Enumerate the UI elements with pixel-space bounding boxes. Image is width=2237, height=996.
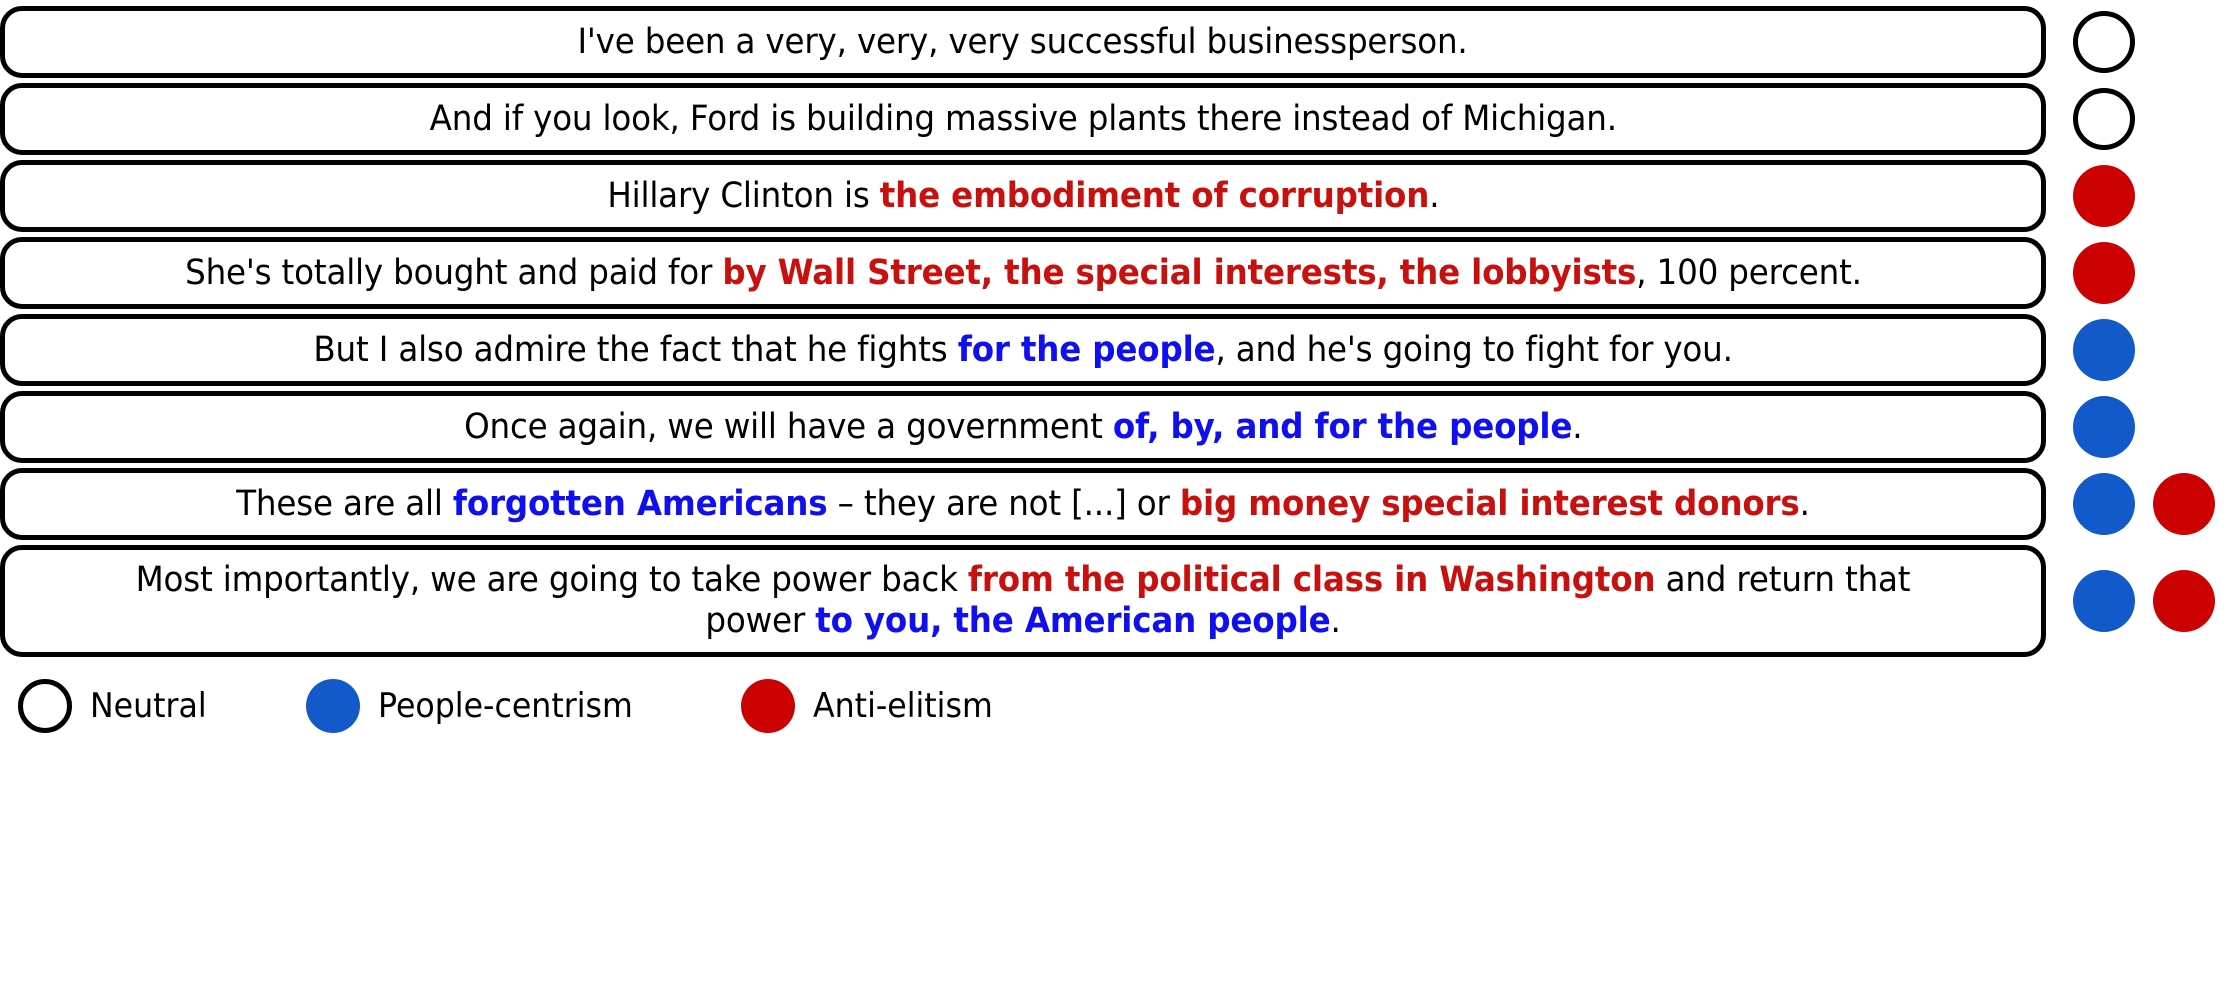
plain-text-segment: And if you look, Ford is building massiv…	[429, 99, 1616, 139]
marker-group	[2046, 83, 2237, 155]
quote-bubble[interactable]: And if you look, Ford is building massiv…	[0, 83, 2046, 155]
legend: NeutralPeople-centrismAnti-elitism	[0, 679, 2237, 733]
plain-text-segment: Most importantly, we are going to take p…	[136, 560, 968, 600]
plain-text-segment: Hillary Clinton is	[607, 176, 879, 216]
plain-text-segment: , and he's going to fight for you.	[1215, 330, 1732, 370]
plain-text-segment: .	[1330, 601, 1340, 641]
quote-row: I've been a very, very, very successful …	[0, 6, 2237, 78]
marker-group	[2046, 160, 2237, 232]
quote-text: Hillary Clinton is the embodiment of cor…	[607, 176, 1439, 217]
anti-elitism-marker-icon	[2073, 165, 2135, 227]
plain-text-segment: But I also admire the fact that he fight…	[313, 330, 957, 370]
quote-text: Most importantly, we are going to take p…	[89, 560, 1956, 642]
quote-row: Most importantly, we are going to take p…	[0, 545, 2237, 657]
neutral-marker-icon	[2073, 11, 2135, 73]
quote-row: These are all forgotten Americans – they…	[0, 468, 2237, 540]
marker-group	[2046, 468, 2237, 540]
people-centrism-marker-icon	[2073, 570, 2135, 632]
marker-group	[2046, 6, 2237, 78]
marker-group	[2046, 237, 2237, 309]
anti-elitism-highlight: the embodiment of corruption	[879, 176, 1428, 216]
marker-group	[2046, 545, 2237, 657]
plain-text-segment: These are all	[236, 484, 453, 524]
quote-bubble[interactable]: She's totally bought and paid for by Wal…	[0, 237, 2046, 309]
anti-elitism-marker-icon	[2153, 473, 2215, 535]
anti-elitism-highlight: from the political class in Washington	[968, 560, 1655, 600]
legend-item-neutral: Neutral	[18, 679, 216, 733]
quote-bubble[interactable]: Once again, we will have a government of…	[0, 391, 2046, 463]
plain-text-segment: – they are not [...] or	[827, 484, 1179, 524]
anti-elitism-legend-icon	[741, 679, 795, 733]
neutral-marker-icon	[2073, 88, 2135, 150]
quote-bubble[interactable]: These are all forgotten Americans – they…	[0, 468, 2046, 540]
marker-group	[2046, 391, 2237, 463]
quote-bubble[interactable]: Most importantly, we are going to take p…	[0, 545, 2046, 657]
people-centrism-highlight: forgotten Americans	[453, 484, 828, 524]
people-centrism-marker-icon	[2073, 396, 2135, 458]
anti-elitism-highlight: by Wall Street, the special interests, t…	[722, 253, 1636, 293]
quote-row: She's totally bought and paid for by Wal…	[0, 237, 2237, 309]
quote-bubble[interactable]: But I also admire the fact that he fight…	[0, 314, 2046, 386]
plain-text-segment: .	[1429, 176, 1439, 216]
legend-label: Neutral	[90, 686, 207, 726]
plain-text-segment: Once again, we will have a government	[464, 407, 1113, 447]
quote-row: Once again, we will have a government of…	[0, 391, 2237, 463]
people-centrism-highlight: for the people	[958, 330, 1216, 370]
figure-root: I've been a very, very, very successful …	[0, 0, 2237, 996]
quote-text: These are all forgotten Americans – they…	[236, 484, 1810, 525]
plain-text-segment: , 100 percent.	[1636, 253, 1862, 293]
anti-elitism-marker-icon	[2073, 242, 2135, 304]
quote-row-list: I've been a very, very, very successful …	[0, 6, 2237, 657]
legend-item-blue: People-centrism	[306, 679, 652, 733]
people-centrism-marker-icon	[2073, 473, 2135, 535]
marker-group	[2046, 314, 2237, 386]
quote-text: But I also admire the fact that he fight…	[313, 330, 1732, 371]
legend-item-red: Anti-elitism	[741, 679, 1006, 733]
legend-label: Anti-elitism	[813, 686, 993, 726]
people-centrism-highlight: to you, the American people	[815, 601, 1330, 641]
quote-text: I've been a very, very, very successful …	[578, 22, 1468, 63]
people-centrism-legend-icon	[306, 679, 360, 733]
plain-text-segment: .	[1800, 484, 1810, 524]
people-centrism-marker-icon	[2073, 319, 2135, 381]
quote-row: Hillary Clinton is the embodiment of cor…	[0, 160, 2237, 232]
people-centrism-highlight: of, by, and for the people	[1113, 407, 1572, 447]
legend-label: People-centrism	[378, 686, 633, 726]
plain-text-segment: She's totally bought and paid for	[185, 253, 722, 293]
plain-text-segment: .	[1572, 407, 1582, 447]
anti-elitism-marker-icon	[2153, 570, 2215, 632]
plain-text-segment: I've been a very, very, very successful …	[578, 22, 1468, 62]
quote-bubble[interactable]: I've been a very, very, very successful …	[0, 6, 2046, 78]
quote-row: But I also admire the fact that he fight…	[0, 314, 2237, 386]
quote-bubble[interactable]: Hillary Clinton is the embodiment of cor…	[0, 160, 2046, 232]
quote-text: Once again, we will have a government of…	[464, 407, 1582, 448]
neutral-legend-icon	[18, 679, 72, 733]
quote-text: She's totally bought and paid for by Wal…	[185, 253, 1862, 294]
quote-row: And if you look, Ford is building massiv…	[0, 83, 2237, 155]
anti-elitism-highlight: big money special interest donors	[1180, 484, 1800, 524]
quote-text: And if you look, Ford is building massiv…	[429, 99, 1616, 140]
